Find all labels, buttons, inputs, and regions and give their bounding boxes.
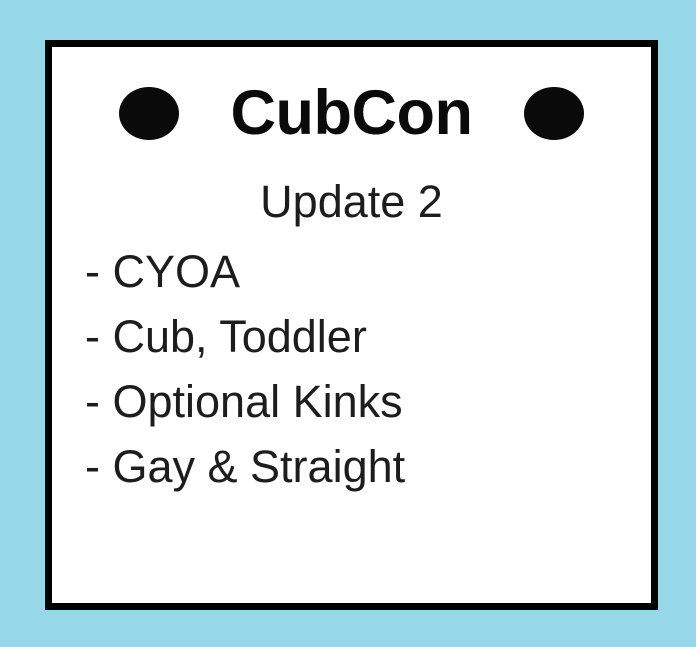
- content-card: CubCon Update 2 - CYOA - Cub, Toddler - …: [45, 40, 658, 610]
- list-item: - Gay & Straight: [85, 434, 641, 499]
- title-row: CubCon: [52, 73, 651, 153]
- bullet-list: - CYOA - Cub, Toddler - Optional Kinks -…: [85, 239, 641, 499]
- slide-subtitle: Update 2: [52, 177, 651, 227]
- slide-canvas: CubCon Update 2 - CYOA - Cub, Toddler - …: [0, 0, 696, 647]
- list-item: - Optional Kinks: [85, 369, 641, 434]
- list-item: - Cub, Toddler: [85, 304, 641, 369]
- circle-icon-right: [524, 87, 584, 140]
- circle-icon-left: [119, 87, 179, 140]
- list-item: - CYOA: [85, 239, 641, 304]
- slide-title: CubCon: [231, 82, 473, 145]
